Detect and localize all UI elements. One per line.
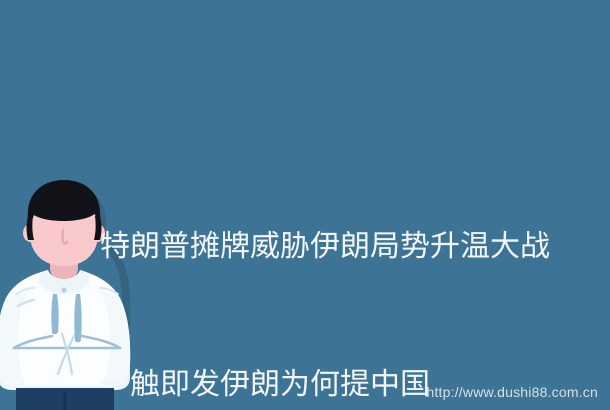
collar-eyelet bbox=[61, 287, 66, 292]
headline-line-1: 特朗普摊牌威胁伊朗局势升温大战 bbox=[100, 224, 600, 270]
watermark-url: http://www.dushi88.com.cn bbox=[426, 384, 598, 400]
poster-canvas: 特朗普摊牌威胁伊朗局势升温大战 一触即发伊朗为何提中国 http://www.d… bbox=[0, 0, 610, 410]
drawstring-right bbox=[74, 294, 81, 342]
drawstring-left bbox=[51, 294, 58, 334]
page-title: 特朗普摊牌威胁伊朗局势升温大战 一触即发伊朗为何提中国 bbox=[100, 132, 600, 410]
